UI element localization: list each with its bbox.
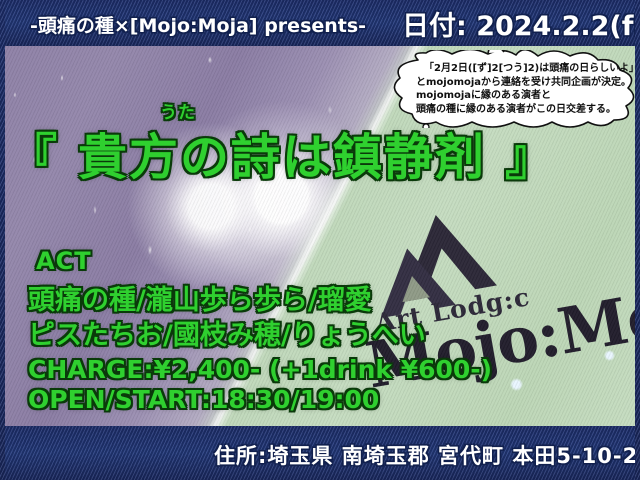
page-title: 『 貴方の詩は鎮静剤 』 (8, 118, 556, 189)
act-lineup-line-1: 頭痛の種/瀧山歩ら歩ら/瑠愛 (28, 278, 372, 317)
callout-line-2: とmojomojaから連絡を受け共同企画が決定。 (416, 76, 630, 90)
left-border-strip (0, 0, 5, 480)
event-date: 日付: 2024.2.2(fri) (402, 4, 640, 43)
event-flyer: Art Lodg:c Mojo:Moja -頭痛の種×[Mojo:Moja] p… (0, 0, 640, 480)
callout-line-3: mojomojaに縁のある演者と (416, 89, 630, 103)
open-start-text: OPEN/START:18:30/19:00 (28, 385, 379, 414)
callout-line-4: 頭痛の種に縁のある演者がこの日交差する。 (416, 103, 630, 117)
right-border-strip (635, 0, 640, 480)
callout-text: 「2月2日([ず]2[つう]2)は頭痛の日らしいよ」 とmojomojaから連絡… (416, 62, 630, 116)
presents-text: -頭痛の種×[Mojo:Moja] presents- (30, 11, 366, 38)
venue-address: 住所:埼玉県 南埼玉郡 宮代町 本田5-10-22 (214, 440, 640, 470)
callout-line-1: 「2月2日([ず]2[つう]2)は頭痛の日らしいよ」 (416, 62, 630, 76)
act-lineup-line-2: ピスたちお/國枝み穂/りょうへい (28, 313, 426, 352)
charge-text: CHARGE:¥2,400- (+1drink ¥600-) (28, 355, 492, 384)
act-label: ACT (36, 247, 92, 275)
callout-bubble: 「2月2日([ず]2[つう]2)は頭痛の日らしいよ」 とmojomojaから連絡… (392, 50, 640, 128)
